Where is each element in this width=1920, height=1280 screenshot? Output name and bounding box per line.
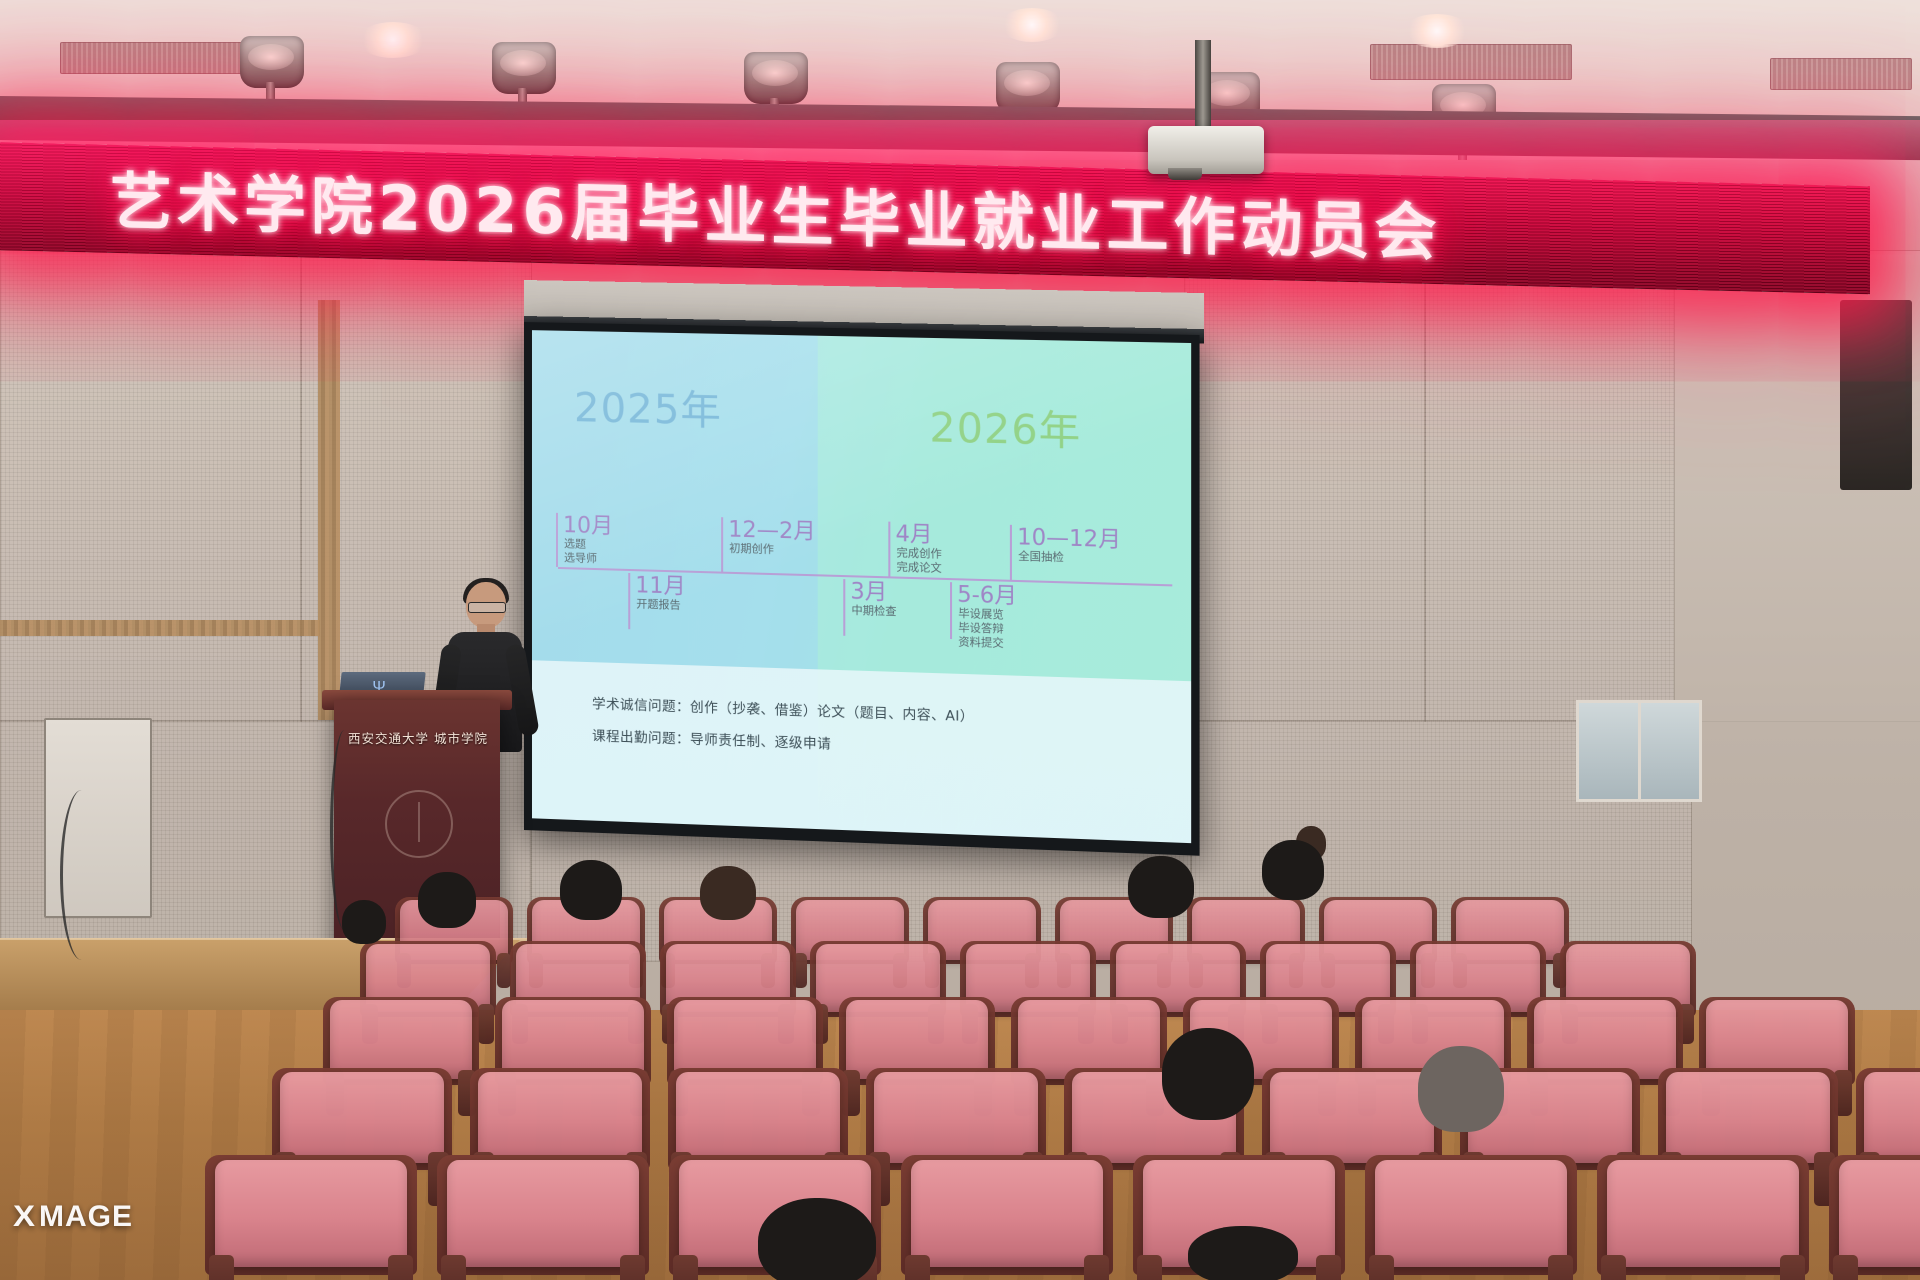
auditorium-seat bbox=[1375, 1160, 1567, 1280]
seat-armrest-right bbox=[388, 1255, 413, 1280]
seat-armrest-right bbox=[1316, 1255, 1341, 1280]
slide-note-line-0: 学术诚信问题：创作（抄袭、借鉴）论文（题目、内容、AI） bbox=[592, 692, 974, 725]
slide-year-2026: 2026年 bbox=[929, 395, 1081, 457]
watermark-text: MAGE bbox=[39, 1200, 133, 1234]
seat-back bbox=[1375, 1160, 1567, 1267]
slide-notes-panel: 学术诚信问题：创作（抄袭、借鉴）论文（题目、内容、AI）课程出勤问题：导师责任制… bbox=[532, 660, 1191, 843]
audience-head bbox=[700, 866, 756, 920]
timeline-node-items: 全国抽检 bbox=[1018, 549, 1064, 565]
timeline-node-month: 4月 bbox=[896, 516, 933, 549]
projection-screen-frame: 2025年 2026年 10月选题选导师12—2月初期创作4月完成创作完成论文1… bbox=[524, 322, 1200, 856]
timeline-node-month: 3月 bbox=[850, 573, 887, 606]
seat-back bbox=[676, 1072, 840, 1163]
seat-back bbox=[911, 1160, 1103, 1267]
projector-lens-icon bbox=[1168, 168, 1202, 180]
audience-head bbox=[1128, 856, 1194, 918]
auditorium-seat bbox=[447, 1160, 639, 1280]
timeline-node-month: 11月 bbox=[635, 567, 685, 601]
seat-armrest-right bbox=[1548, 1255, 1573, 1280]
seat-back bbox=[1864, 1072, 1920, 1163]
seat-armrest-right bbox=[620, 1255, 645, 1280]
seat-armrest-right bbox=[478, 1004, 494, 1044]
timeline-node-items: 选题选导师 bbox=[564, 537, 597, 566]
timeline-node-items: 毕设展览毕设答辩资料提交 bbox=[958, 607, 1003, 651]
wall-speaker-right bbox=[1840, 300, 1912, 490]
seat-armrest-left bbox=[209, 1255, 234, 1280]
seat-back bbox=[478, 1072, 642, 1163]
seat-back bbox=[447, 1160, 639, 1267]
timeline-node-bar bbox=[556, 513, 558, 567]
timeline-node-bar bbox=[628, 573, 630, 629]
timeline-node-items: 开题报告 bbox=[636, 597, 680, 612]
projector-mount bbox=[1195, 40, 1211, 132]
auditorium-seat bbox=[911, 1160, 1103, 1280]
watermark-x-icon: X bbox=[13, 1200, 36, 1234]
seat-back bbox=[1839, 1160, 1920, 1267]
audience-head bbox=[560, 860, 622, 920]
watermark: XMAGE bbox=[14, 1200, 133, 1234]
floor-cable-2 bbox=[330, 730, 359, 930]
floor-cable-1 bbox=[60, 790, 103, 960]
slide-note-line-1: 课程出勤问题：导师责任制、逐级申请 bbox=[592, 724, 831, 752]
seat-armrest-left bbox=[1833, 1255, 1858, 1280]
auditorium-scene: 艺术学院2026届毕业生毕业就业工作动员会 2025年 2026年 10月选题选… bbox=[0, 0, 1920, 1280]
timeline-node-bar bbox=[843, 579, 845, 636]
wall-panel-left bbox=[0, 250, 302, 722]
wall-window-right bbox=[1576, 700, 1702, 802]
seat-armrest-left bbox=[673, 1255, 698, 1280]
auditorium-seat bbox=[1607, 1160, 1799, 1280]
timeline-node-month: 10月 bbox=[563, 507, 613, 540]
projector-body bbox=[1148, 126, 1264, 174]
seat-back bbox=[280, 1072, 444, 1163]
timeline-node-month: 12—2月 bbox=[728, 511, 815, 546]
audience-head bbox=[1418, 1046, 1504, 1132]
projection-screen: 2025年 2026年 10月选题选导师12—2月初期创作4月完成创作完成论文1… bbox=[532, 330, 1191, 843]
timeline-node-bar bbox=[950, 582, 952, 639]
seat-back bbox=[874, 1072, 1038, 1163]
seat-armrest-left bbox=[1369, 1255, 1394, 1280]
timeline-node-bar bbox=[888, 522, 890, 577]
wood-rail-left bbox=[0, 620, 320, 636]
seat-armrest-left bbox=[1137, 1255, 1162, 1280]
podium-institution-plate: 西安交通大学 城市学院 bbox=[352, 726, 484, 748]
presenter-glasses-icon bbox=[468, 602, 506, 613]
seat-armrest-left bbox=[1601, 1255, 1626, 1280]
audience-head bbox=[1188, 1226, 1298, 1280]
seat-armrest-left bbox=[441, 1255, 466, 1280]
audience-head bbox=[342, 900, 386, 944]
seat-back bbox=[1270, 1072, 1434, 1163]
timeline-node-items: 中期检查 bbox=[851, 604, 896, 620]
auditorium-seat bbox=[215, 1160, 407, 1280]
wood-trim-left bbox=[318, 300, 340, 720]
seat-back bbox=[1607, 1160, 1799, 1267]
audience-head bbox=[418, 872, 476, 928]
timeline-node-bar bbox=[1010, 525, 1012, 580]
audience-head bbox=[758, 1198, 876, 1280]
seat-armrest-left bbox=[905, 1255, 930, 1280]
timeline-node-month: 5-6月 bbox=[957, 576, 1017, 610]
wall-panel-right-1 bbox=[1184, 250, 1426, 722]
slide-year-2025: 2025年 bbox=[574, 375, 722, 437]
seat-back bbox=[215, 1160, 407, 1267]
timeline-node-bar bbox=[721, 517, 723, 571]
seat-armrest-right bbox=[1084, 1255, 1109, 1280]
seat-back bbox=[1666, 1072, 1830, 1163]
timeline-node-items: 完成创作完成论文 bbox=[897, 546, 942, 576]
audience-head bbox=[1262, 840, 1324, 900]
wall-panel-right-2 bbox=[1424, 250, 1676, 722]
seat-armrest-right bbox=[1780, 1255, 1805, 1280]
auditorium-seat bbox=[1839, 1160, 1920, 1280]
timeline-node-items: 初期创作 bbox=[729, 542, 774, 557]
audience-head bbox=[1162, 1028, 1254, 1120]
podium-emblem-icon bbox=[385, 790, 453, 858]
